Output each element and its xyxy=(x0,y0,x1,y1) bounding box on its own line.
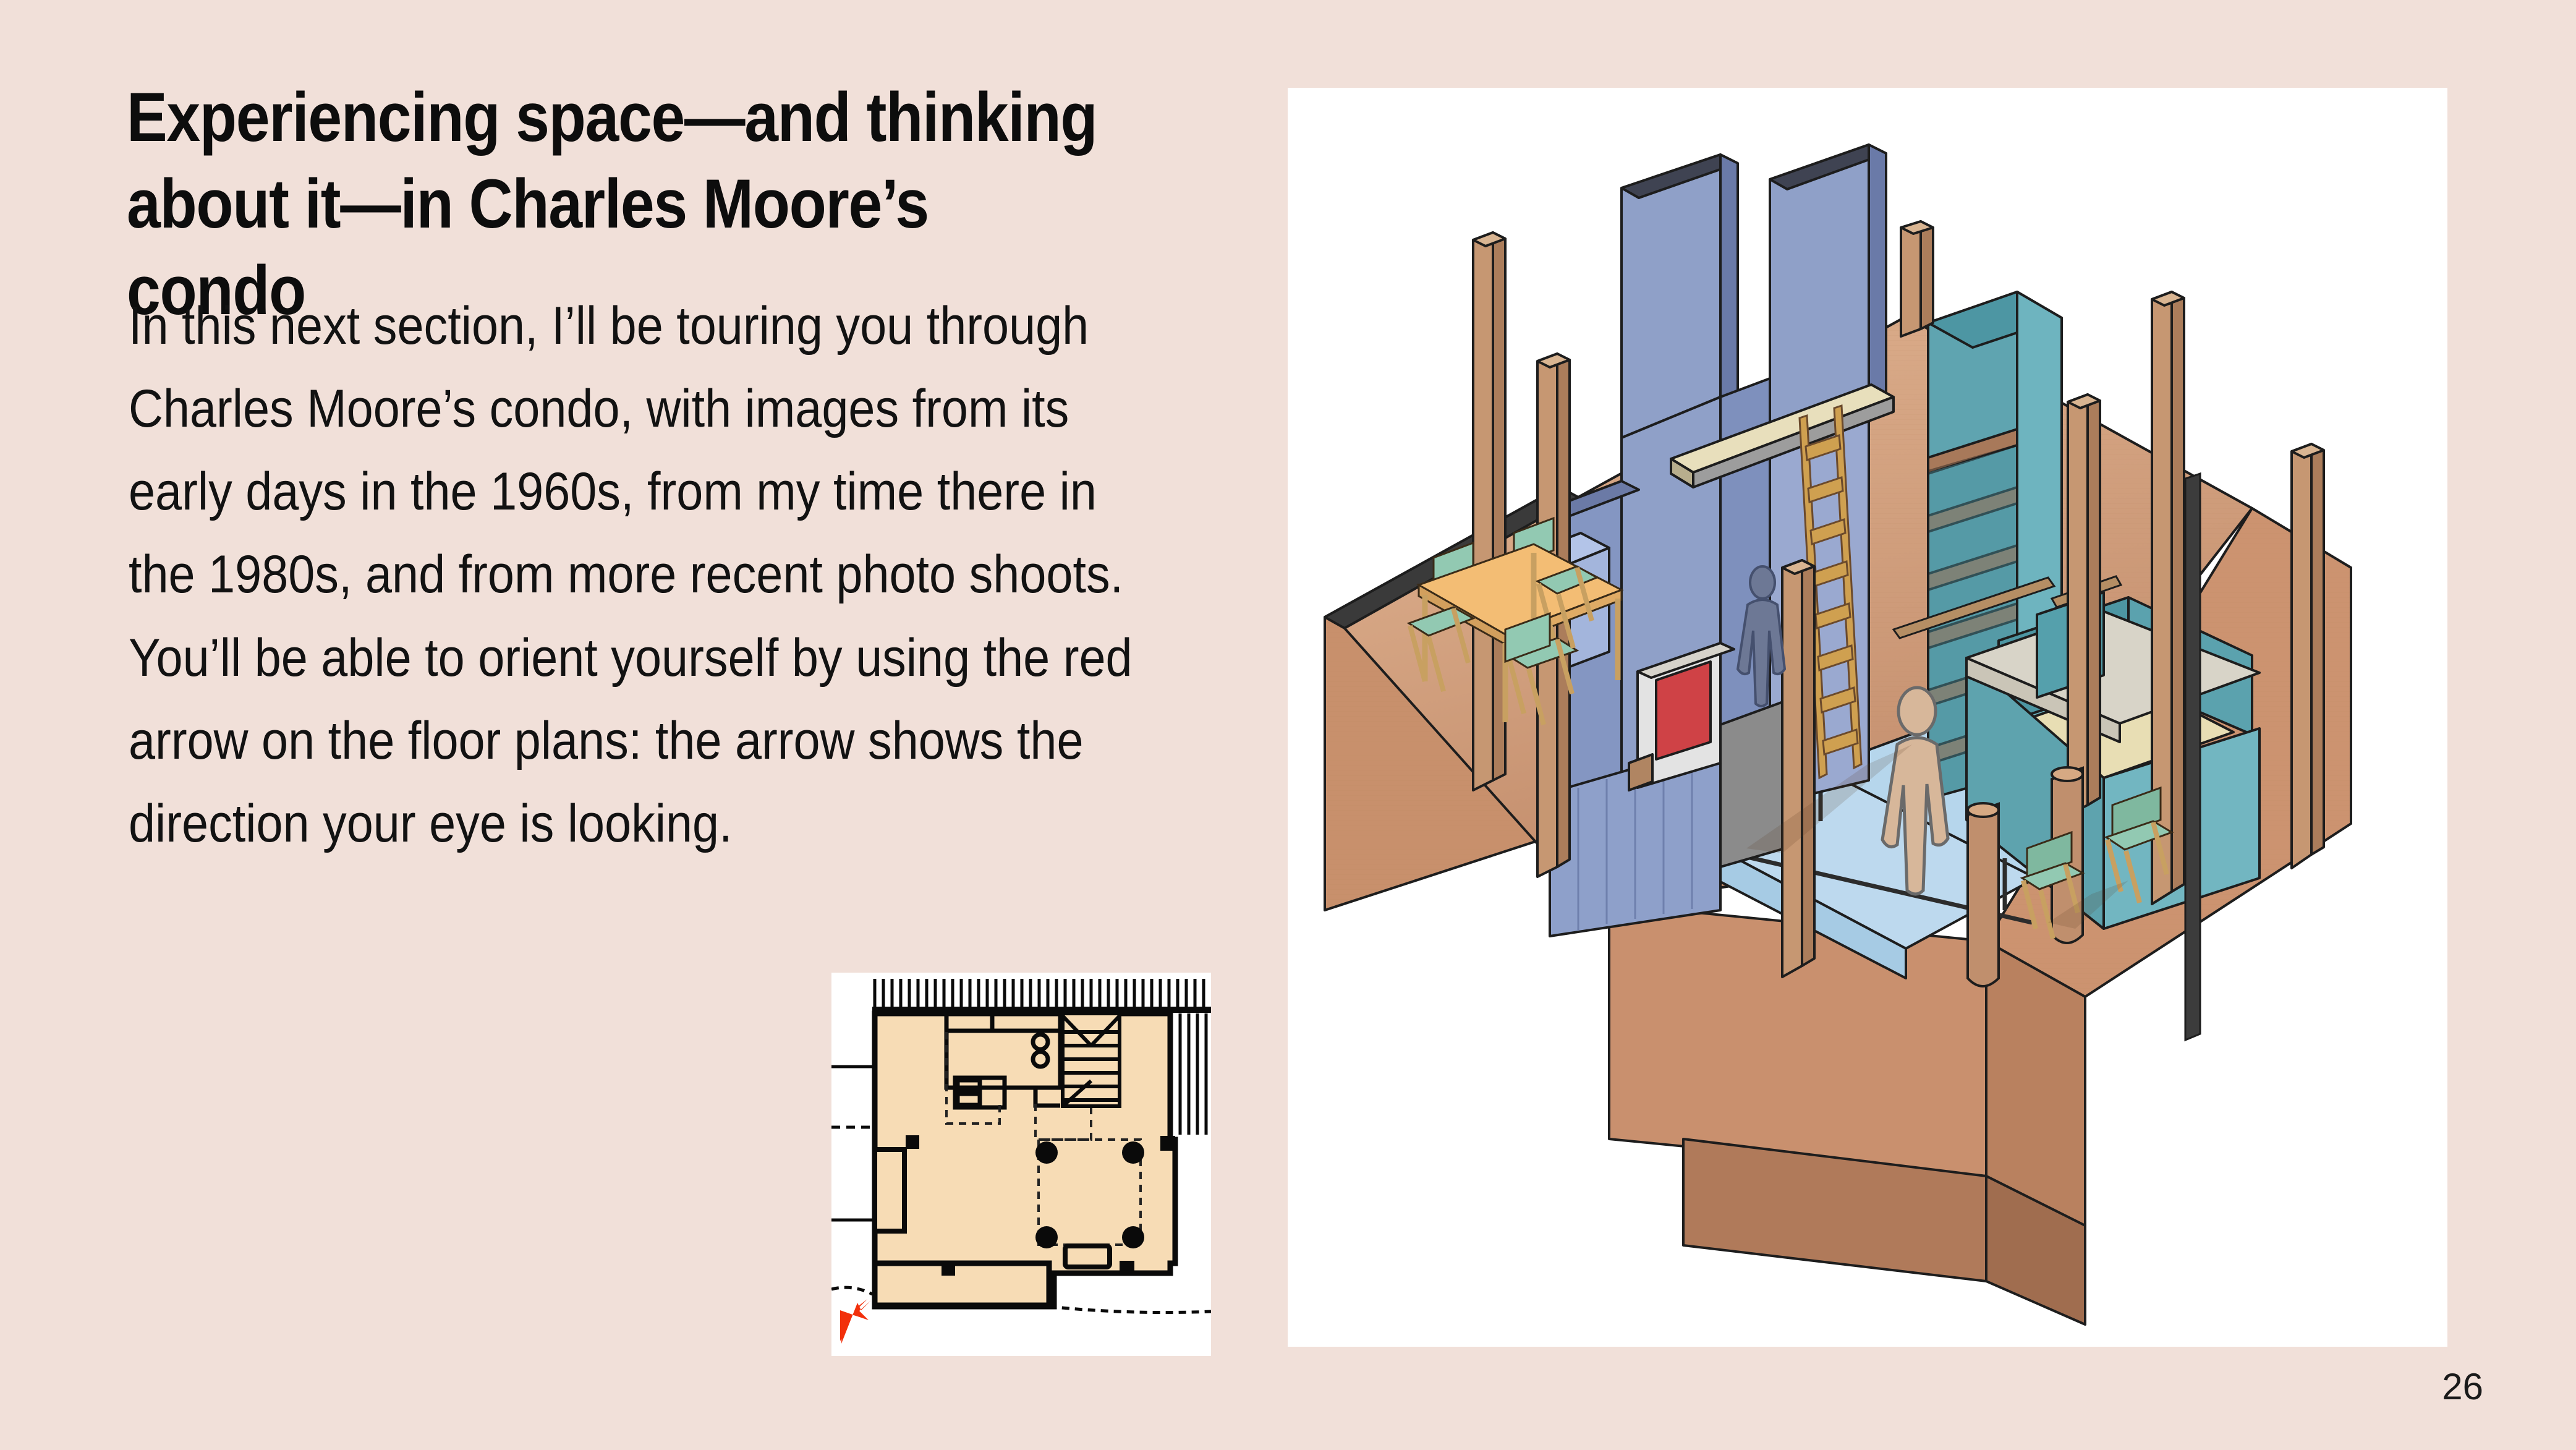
page-number: 26 xyxy=(2442,1365,2483,1408)
model-image-panel[interactable] xyxy=(1288,88,2447,1347)
floor-plan-thumbnail[interactable] xyxy=(831,973,1211,1356)
bottom-fixture xyxy=(1065,1246,1110,1267)
slide-canvas: Experiencing space—and thinking about it… xyxy=(0,0,2576,1450)
black-pole xyxy=(2185,474,2200,1040)
floor-plan-drawing xyxy=(831,973,1211,1356)
body-paragraph: In this next section, I’ll be touring yo… xyxy=(129,284,1141,865)
bay-window-left xyxy=(875,1149,904,1231)
stair-run xyxy=(1063,1013,1120,1106)
axonometric-model-drawing xyxy=(1288,88,2447,1347)
floor-slab-lower xyxy=(875,1263,1049,1305)
